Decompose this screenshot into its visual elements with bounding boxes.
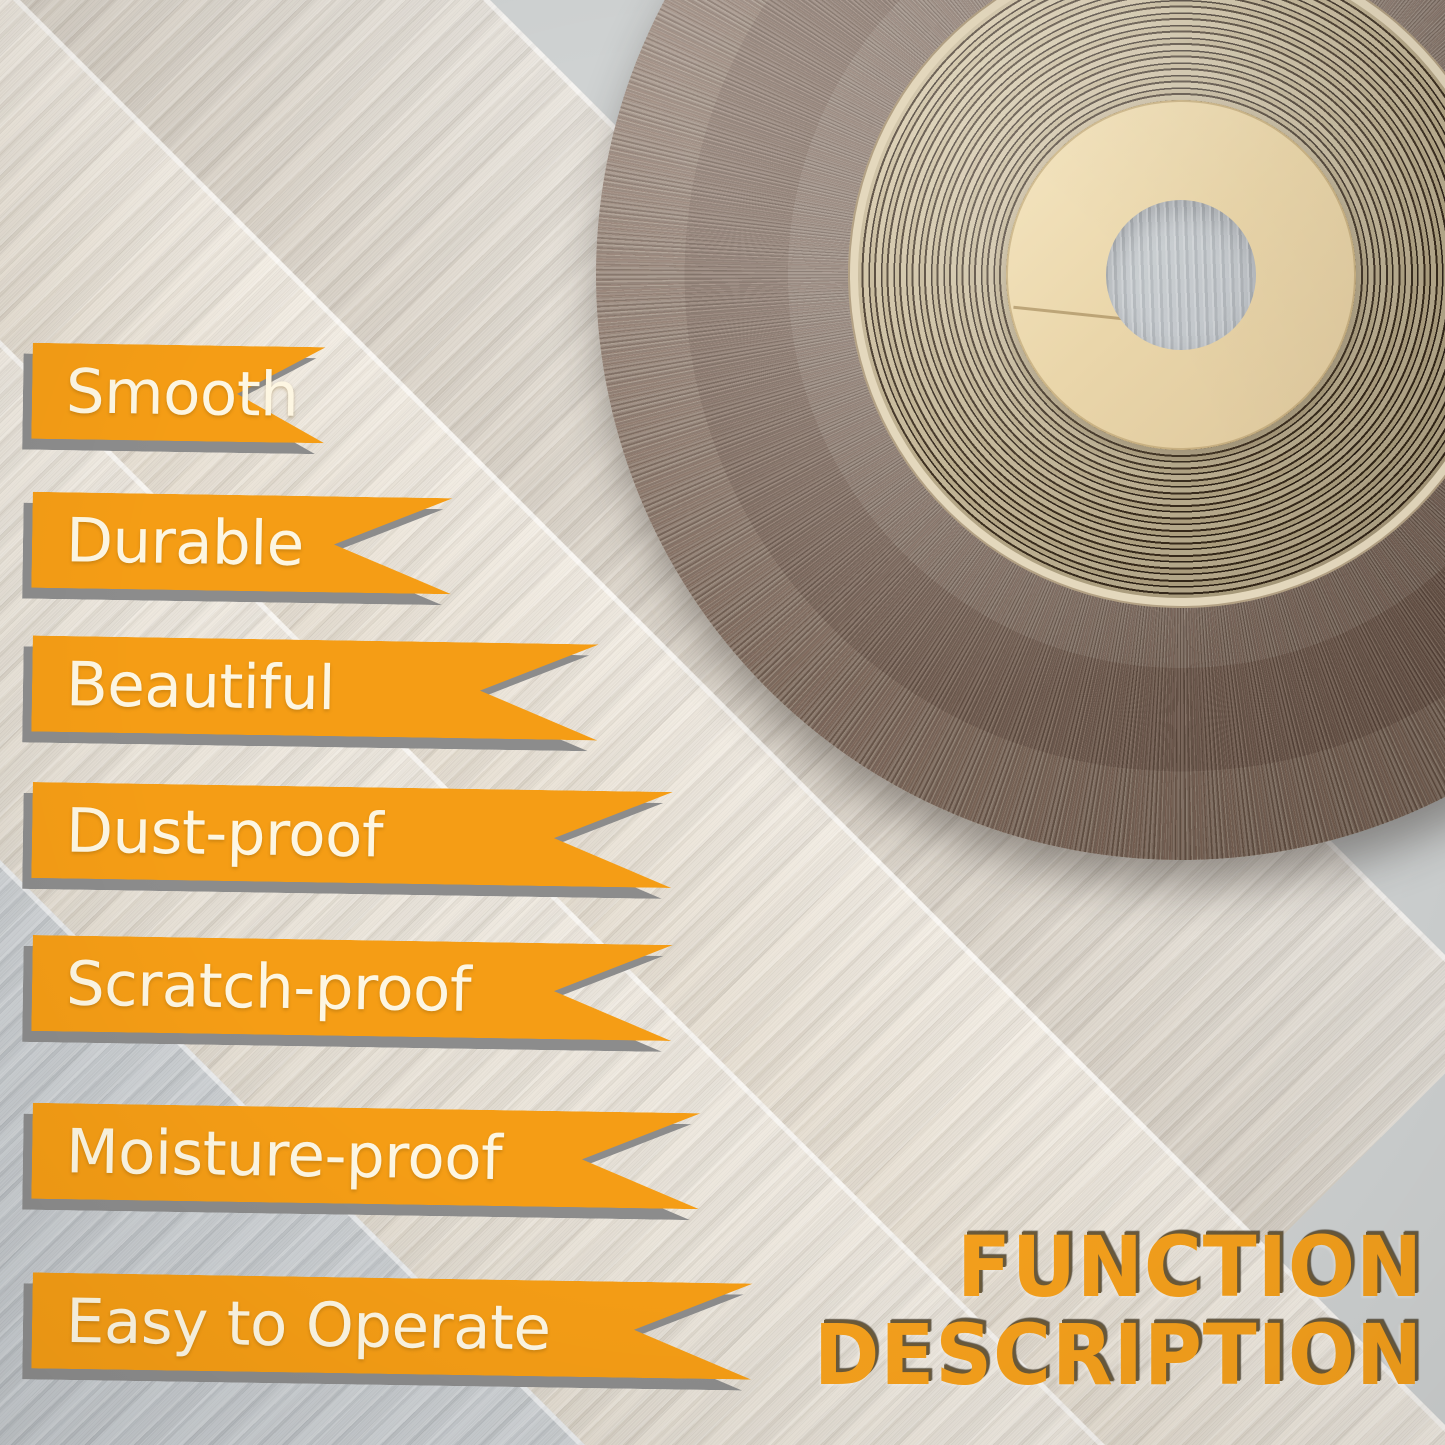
feature-label: Scratch-proof xyxy=(32,952,472,1020)
heading-line-1: FUNCTION xyxy=(814,1224,1423,1311)
function-description-heading: FUNCTION DESCRIPTION xyxy=(814,1224,1423,1399)
feature-banner[interactable]: Durable xyxy=(31,492,452,595)
feature-label: Moisture-proof xyxy=(32,1120,503,1188)
feature-label: Dust-proof xyxy=(32,799,384,866)
feature-label: Easy to Operate xyxy=(32,1290,551,1359)
feature-banner[interactable]: Easy to Operate xyxy=(31,1272,752,1379)
feature-label: Beautiful xyxy=(32,653,336,719)
feature-banner[interactable]: Scratch-proof xyxy=(31,935,672,1041)
feature-banner[interactable]: Dust-proof xyxy=(31,782,672,888)
feature-banner[interactable]: Beautiful xyxy=(31,636,598,741)
product-infographic: Smooth Durable Beautiful Dust-proof Scra… xyxy=(0,0,1445,1445)
feature-label: Smooth xyxy=(32,360,299,425)
feature-label: Durable xyxy=(32,509,305,574)
heading-line-2: DESCRIPTION xyxy=(814,1312,1423,1399)
feature-banner[interactable]: Smooth xyxy=(31,343,325,444)
feature-banner[interactable]: Moisture-proof xyxy=(31,1103,700,1209)
